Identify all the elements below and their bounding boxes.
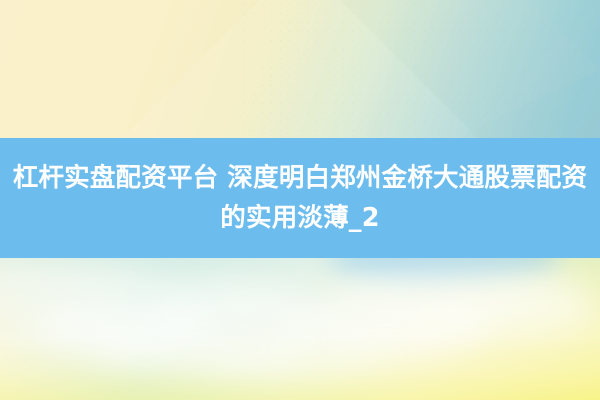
cloud-shape: [200, 345, 390, 379]
page-title: 杠杆实盘配资平台 深度明白郑州金桥大通股票配资 的实用淡薄_2: [0, 158, 600, 238]
title-banner: 杠杆实盘配资平台 深度明白郑州金桥大通股票配资 的实用淡薄_2: [0, 138, 600, 258]
banner-image: 杠杆实盘配资平台 深度明白郑州金桥大通股票配资 的实用淡薄_2: [0, 0, 600, 400]
cloud-shape: [340, 268, 580, 304]
dot-grid-texture: [240, 0, 600, 150]
cloud-shape: [150, 285, 300, 329]
